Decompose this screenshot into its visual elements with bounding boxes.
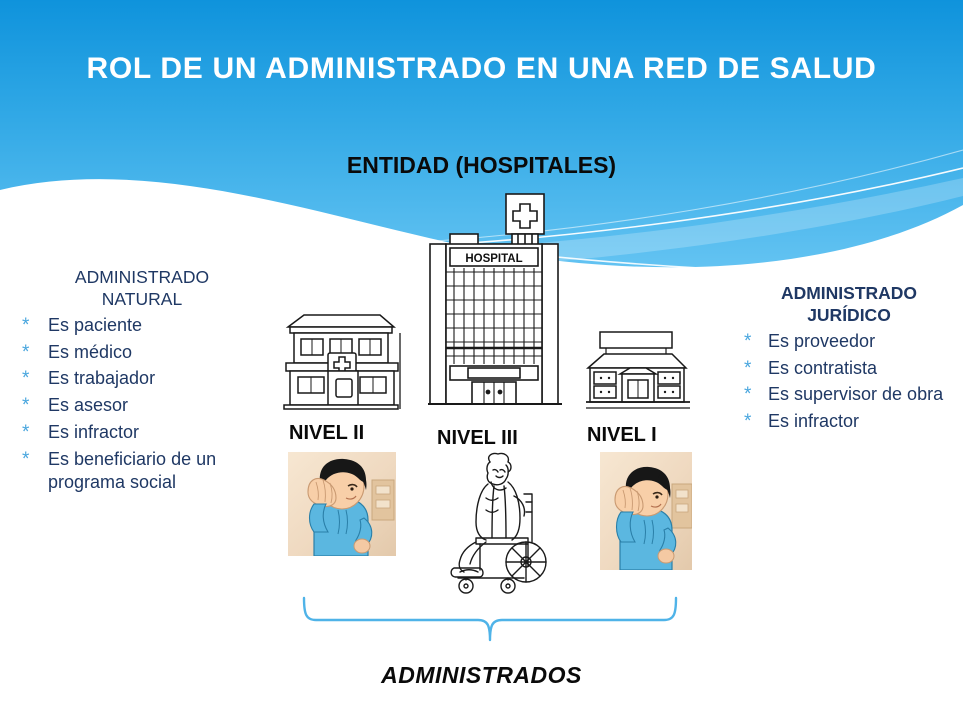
- list-item-label: Es contratista: [768, 357, 962, 380]
- list-item-label: Es paciente: [48, 314, 262, 337]
- administrado-natural-block: ADMINISTRADO NATURAL * Es paciente * Es …: [22, 266, 262, 496]
- hospital-tall-building-icon: HOSPITAL: [424, 192, 566, 420]
- boy-patient-photo-right: [600, 452, 692, 570]
- administrado-natural-heading-line2: NATURAL: [22, 288, 262, 310]
- administrado-juridico-list: * Es proveedor * Es contratista * Es sup…: [736, 330, 962, 435]
- boy-patient-photo-left: [288, 452, 396, 556]
- list-item-label: Es beneficiario de un programa social: [48, 448, 262, 495]
- list-item: * Es asesor: [22, 394, 262, 419]
- asterisk-icon: *: [22, 448, 48, 473]
- asterisk-icon: *: [736, 357, 768, 382]
- level-label-nivel-2: NIVEL II: [289, 422, 364, 445]
- list-item: * Es infractor: [736, 410, 962, 435]
- list-item-label: Es supervisor de obra: [768, 383, 962, 406]
- asterisk-icon: *: [736, 330, 768, 355]
- administrado-natural-heading: ADMINISTRADO NATURAL: [22, 266, 262, 310]
- list-item: * Es contratista: [736, 357, 962, 382]
- hospital-one-story-building-icon: [586, 328, 690, 416]
- list-item: * Es supervisor de obra: [736, 383, 962, 408]
- list-item: * Es infractor: [22, 421, 262, 446]
- list-item: * Es trabajador: [22, 367, 262, 392]
- list-item: * Es proveedor: [736, 330, 962, 355]
- list-item-label: Es infractor: [48, 421, 262, 444]
- asterisk-icon: *: [22, 341, 48, 366]
- list-item-label: Es trabajador: [48, 367, 262, 390]
- asterisk-icon: *: [736, 383, 768, 408]
- administrados-footer-label: ADMINISTRADOS: [0, 662, 963, 689]
- list-item: * Es médico: [22, 341, 262, 366]
- hospital-sign-text: HOSPITAL: [465, 253, 522, 265]
- administrado-natural-heading-line1: ADMINISTRADO: [22, 266, 262, 288]
- entity-heading: ENTIDAD (HOSPITALES): [0, 152, 963, 179]
- administrado-juridico-heading-line2: JURÍDICO: [736, 304, 962, 326]
- list-item: * Es beneficiario de un programa social: [22, 448, 262, 495]
- grouping-brace: [300, 596, 680, 658]
- administrado-juridico-block: ADMINISTRADO JURÍDICO * Es proveedor * E…: [736, 282, 962, 437]
- asterisk-icon: *: [22, 421, 48, 446]
- list-item-label: Es asesor: [48, 394, 262, 417]
- slide-canvas: ROL DE UN ADMINISTRADO EN UNA RED DE SAL…: [0, 0, 963, 723]
- page-title: ROL DE UN ADMINISTRADO EN UNA RED DE SAL…: [0, 52, 963, 86]
- administrado-juridico-heading: ADMINISTRADO JURÍDICO: [736, 282, 962, 326]
- level-label-nivel-1: NIVEL I: [587, 424, 657, 447]
- administrado-juridico-heading-line1: ADMINISTRADO: [736, 282, 962, 304]
- level-label-nivel-3: NIVEL III: [437, 427, 518, 450]
- list-item-label: Es infractor: [768, 410, 962, 433]
- administrado-natural-list: * Es paciente * Es médico * Es trabajado…: [22, 314, 262, 494]
- list-item-label: Es proveedor: [768, 330, 962, 353]
- asterisk-icon: *: [22, 367, 48, 392]
- asterisk-icon: *: [22, 314, 48, 339]
- list-item: * Es paciente: [22, 314, 262, 339]
- hospital-two-story-building-icon: [276, 305, 406, 413]
- elderly-person-wheelchair-icon: [446, 450, 550, 598]
- asterisk-icon: *: [736, 410, 768, 435]
- list-item-label: Es médico: [48, 341, 262, 364]
- asterisk-icon: *: [22, 394, 48, 419]
